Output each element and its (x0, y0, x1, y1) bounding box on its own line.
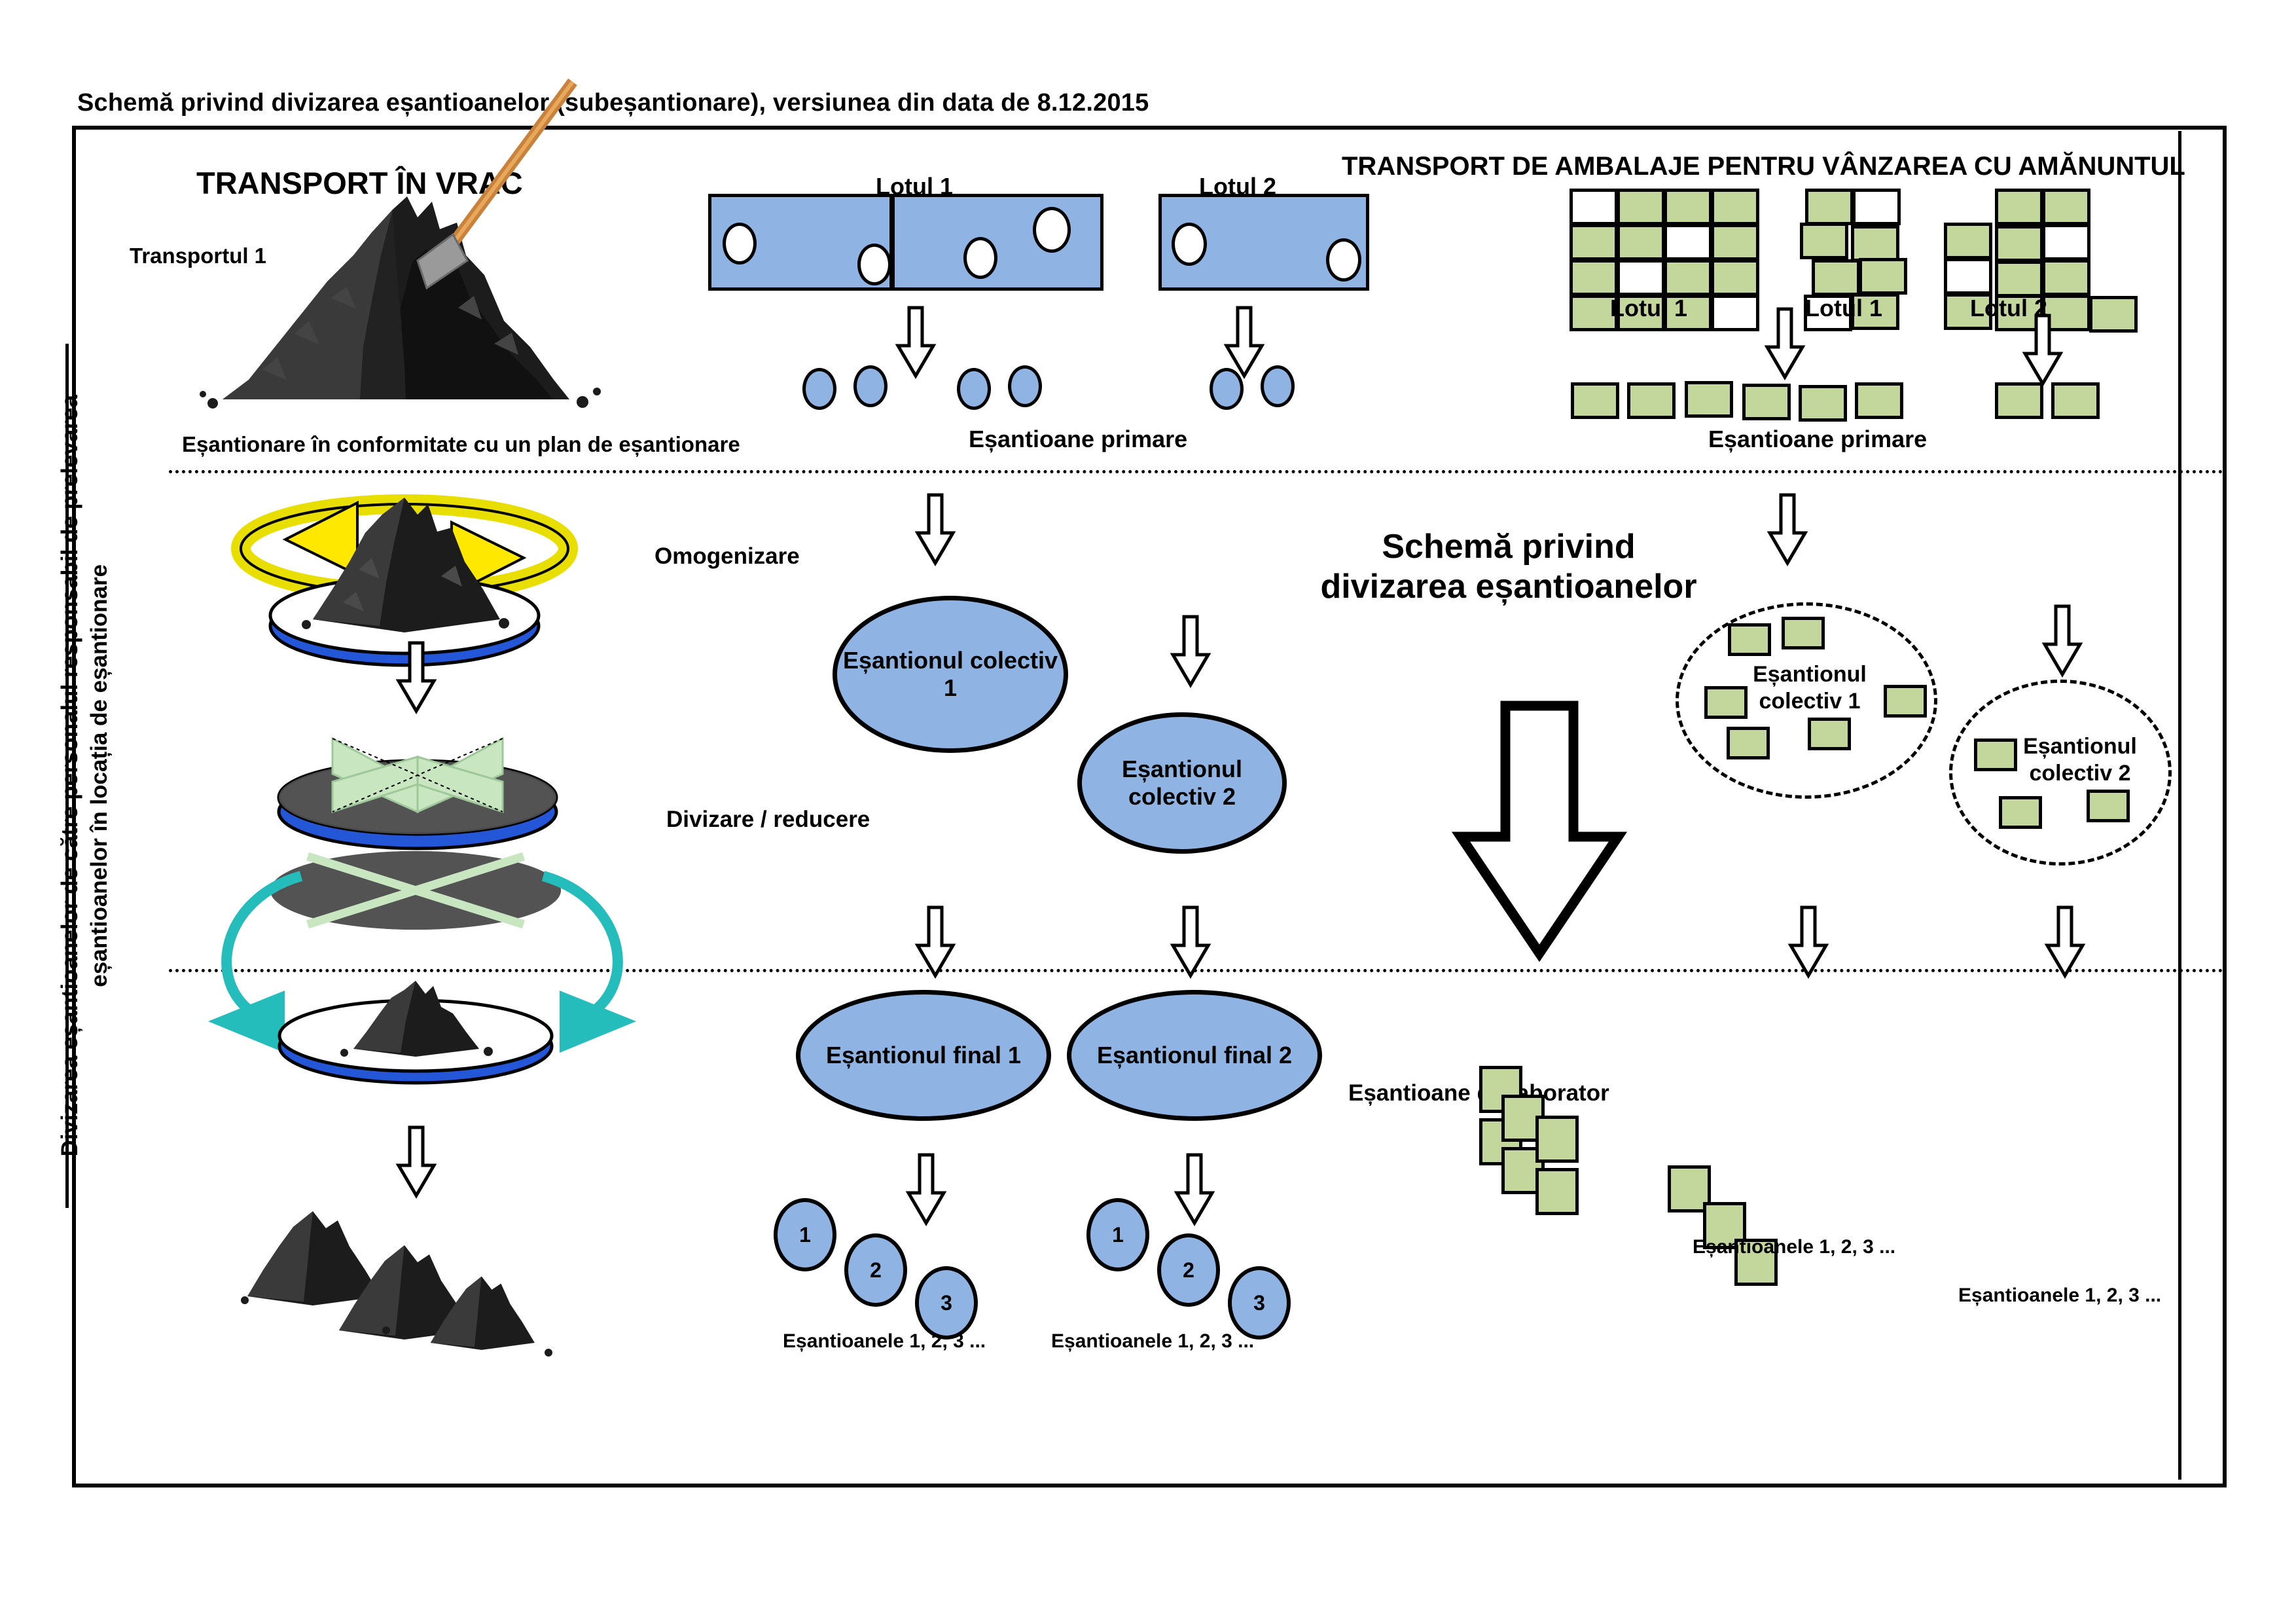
final-sample-2: Eșantionul final 2 (1067, 990, 1322, 1121)
retail-lot1b-label: Lotul 1 (1805, 295, 1882, 322)
laboratory-caption-1: Eșantioanele 1, 2, 3 ... (1693, 1236, 1895, 1258)
down-arrow-icon (1767, 492, 1808, 566)
down-arrow-icon (2022, 313, 2063, 386)
lab-sample-1: 1 (1086, 1198, 1149, 1271)
retail-primary-sample (1571, 382, 1619, 419)
laboratory-sample (1535, 1116, 1579, 1163)
primary-sample (1210, 368, 1244, 410)
retail-collective-package (2087, 790, 2130, 822)
page-title: Schemă privind divizarea eșantioanelor (… (77, 89, 1149, 117)
final-samples-caption-1: Eșantioanele 1, 2, 3 ... (783, 1330, 986, 1353)
division-label: Divizare / reducere (666, 807, 870, 833)
down-arrow-icon (1170, 614, 1211, 687)
homogenization-label: Omogenizare (655, 543, 800, 570)
side-caption: Divizarea eșantioanelor de către persona… (56, 350, 115, 1201)
bulk-sample-point (963, 237, 997, 279)
down-arrow-icon (1170, 905, 1211, 978)
lab-sample-number: 1 (799, 1223, 811, 1247)
bulk-sample-point (1326, 238, 1361, 282)
lab-sample-3: 3 (1228, 1266, 1291, 1340)
down-arrow-icon (1224, 305, 1265, 378)
down-arrow-icon (1788, 905, 1829, 978)
bulk-sample-point (857, 244, 891, 285)
bulk-sample-point (723, 223, 757, 264)
retail-collective-package (1704, 686, 1748, 719)
retail-transport-heading: TRANSPORT DE AMBALAJE PENTRU VÂNZAREA CU… (1342, 152, 2185, 181)
retail-collective-package (1808, 718, 1851, 750)
lab-sample-2: 2 (844, 1233, 907, 1307)
lab-sample-2: 2 (1157, 1233, 1220, 1307)
lab-sample-3: 3 (915, 1266, 978, 1340)
final-sample-1-label: Eșantionul final 1 (826, 1042, 1021, 1069)
retail-primary-sample (1685, 381, 1733, 418)
retail-collective-package (1974, 739, 2017, 771)
retail-primary-samples-label: Eșantioane primare (1708, 426, 1927, 453)
bulk-lot1-box-b (891, 194, 1103, 291)
down-arrow-icon (915, 492, 956, 566)
collective-sample-2-label: Eșantionul colectiv 2 (1082, 756, 1282, 811)
primary-sample (1008, 365, 1042, 407)
lab-sample-number: 3 (941, 1291, 952, 1315)
down-arrow-icon (396, 640, 437, 714)
down-arrow-icon (2045, 905, 2085, 978)
retail-collective-package (1999, 796, 2042, 829)
retail-lot1a-label: Lotul 1 (1610, 295, 1687, 322)
collective-sample-2: Eșantionul colectiv 2 (1077, 712, 1287, 854)
bulk-sample-point (1172, 223, 1207, 266)
lab-sample-number: 3 (1253, 1291, 1265, 1315)
coal-pile-icon (196, 183, 668, 432)
bulk-primary-samples-label: Eșantioane primare (969, 426, 1187, 453)
retail-primary-sample (2051, 382, 2100, 419)
right-vertical-divider (2178, 131, 2181, 1480)
retail-primary-sample (1855, 382, 1903, 419)
coal-piles-icon (241, 1198, 581, 1362)
down-arrow-icon (895, 305, 936, 378)
retail-collective-package (1728, 623, 1771, 656)
primary-sample (1261, 365, 1295, 407)
down-arrow-icon (2042, 604, 2083, 677)
retail-primary-sample (1742, 384, 1791, 420)
sample-tray-icon (262, 976, 569, 1093)
final-sample-1: Eșantionul final 1 (796, 990, 1051, 1121)
retail-primary-sample (1799, 385, 1847, 422)
riffle-divider-icon (254, 714, 581, 858)
lab-sample-number: 2 (870, 1258, 882, 1283)
retail-collective-sample-1-label: Eșantionul colectiv 1 (1728, 661, 1892, 715)
lab-sample-number: 1 (1112, 1223, 1124, 1247)
primary-sample (853, 365, 888, 407)
section-divider-top (169, 470, 2224, 473)
retail-collective-sample-2-label: Eșantionul colectiv 2 (2001, 733, 2159, 787)
center-title: Schemă privind divizarea eșantioanelor (1306, 527, 1712, 608)
retail-collective-package (1884, 685, 1927, 718)
lab-sample-1: 1 (774, 1198, 836, 1271)
down-arrow-icon (396, 1125, 437, 1198)
retail-collective-package (1782, 617, 1825, 649)
final-sample-2-label: Eșantionul final 2 (1097, 1042, 1292, 1069)
down-arrow-icon (1765, 306, 1805, 380)
collective-sample-1-label: Eșantionul colectiv 1 (837, 647, 1064, 702)
big-down-arrow-icon (1454, 699, 1624, 961)
sampling-plan-label: Eșantionare în conformitate cu un plan d… (182, 432, 740, 457)
retail-collective-1-text: Eșantionul colectiv 1 (1753, 662, 1867, 714)
retail-primary-sample (1995, 382, 2043, 419)
primary-sample (802, 368, 836, 410)
retail-collective-package (1727, 727, 1770, 759)
down-arrow-icon (1174, 1152, 1215, 1226)
down-arrow-icon (906, 1152, 946, 1226)
collective-sample-1: Eșantionul colectiv 1 (833, 596, 1068, 753)
laboratory-caption-2: Eșantioanele 1, 2, 3 ... (1958, 1285, 2161, 1307)
retail-collective-2-text: Eșantionul colectiv 2 (2023, 734, 2137, 786)
retail-primary-sample (1627, 382, 1676, 419)
bulk-sample-point (1033, 207, 1071, 253)
down-arrow-icon (915, 905, 956, 978)
primary-sample (957, 368, 991, 410)
lab-sample-number: 2 (1183, 1258, 1194, 1283)
final-samples-caption-2: Eșantioanele 1, 2, 3 ... (1051, 1330, 1254, 1353)
laboratory-sample (1535, 1168, 1579, 1215)
